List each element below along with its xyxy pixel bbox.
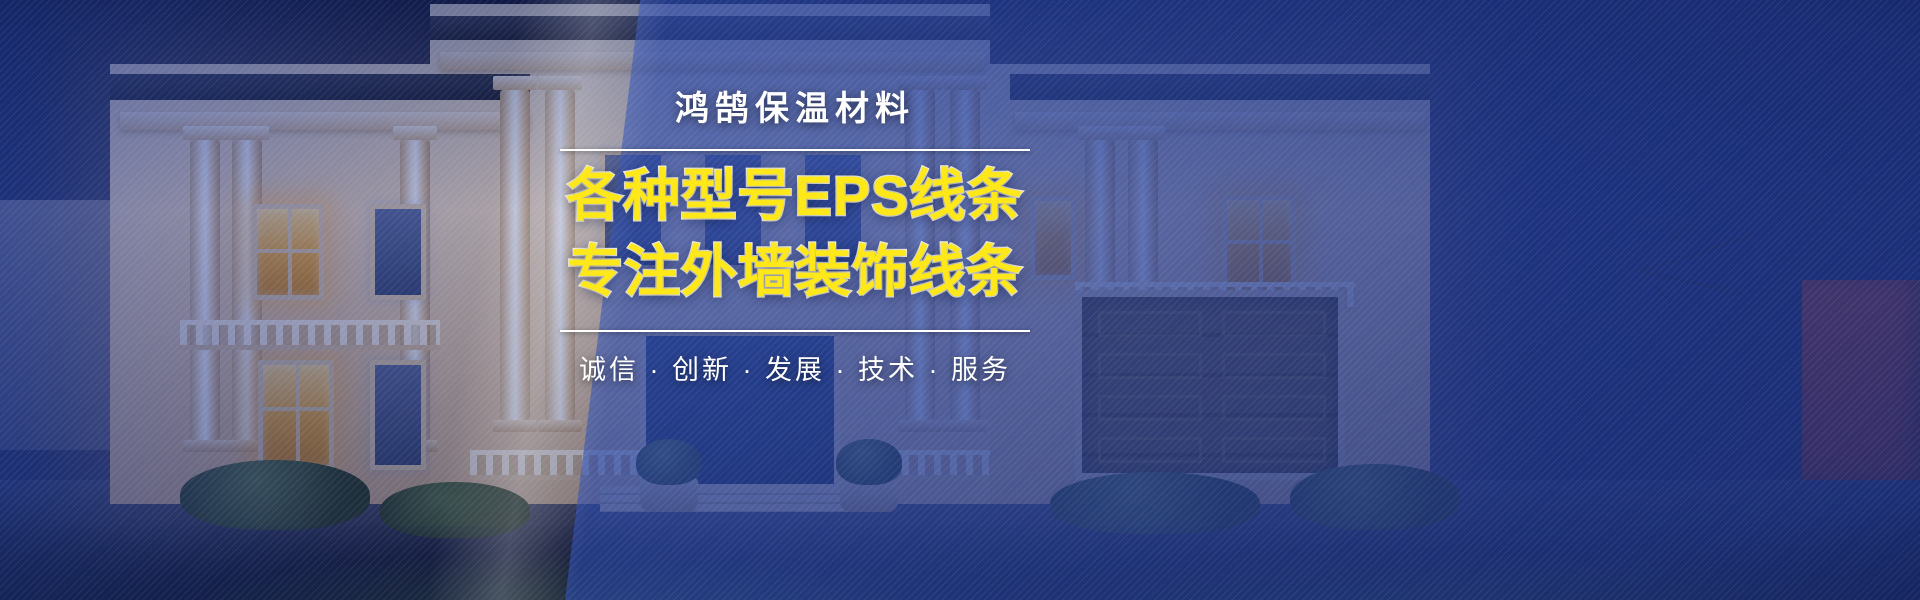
tagline: 诚信 · 创新 · 发展 · 技术 · 服务 xyxy=(560,348,1030,387)
promotional-banner: 鸿鹄保温材料 各种型号EPS线条 专注外墙装饰线条 诚信 · 创新 · 发展 ·… xyxy=(0,0,1920,600)
divider-bottom xyxy=(560,330,1030,332)
banner-content: 鸿鹄保温材料 各种型号EPS线条 专注外墙装饰线条 诚信 · 创新 · 发展 ·… xyxy=(560,88,1030,387)
headline-line-2: 专注外墙装饰线条 xyxy=(560,241,1030,304)
divider-top xyxy=(560,149,1030,151)
headline-line-1: 各种型号EPS线条 xyxy=(560,165,1030,228)
brand-name: 鸿鹄保温材料 xyxy=(560,88,1030,131)
